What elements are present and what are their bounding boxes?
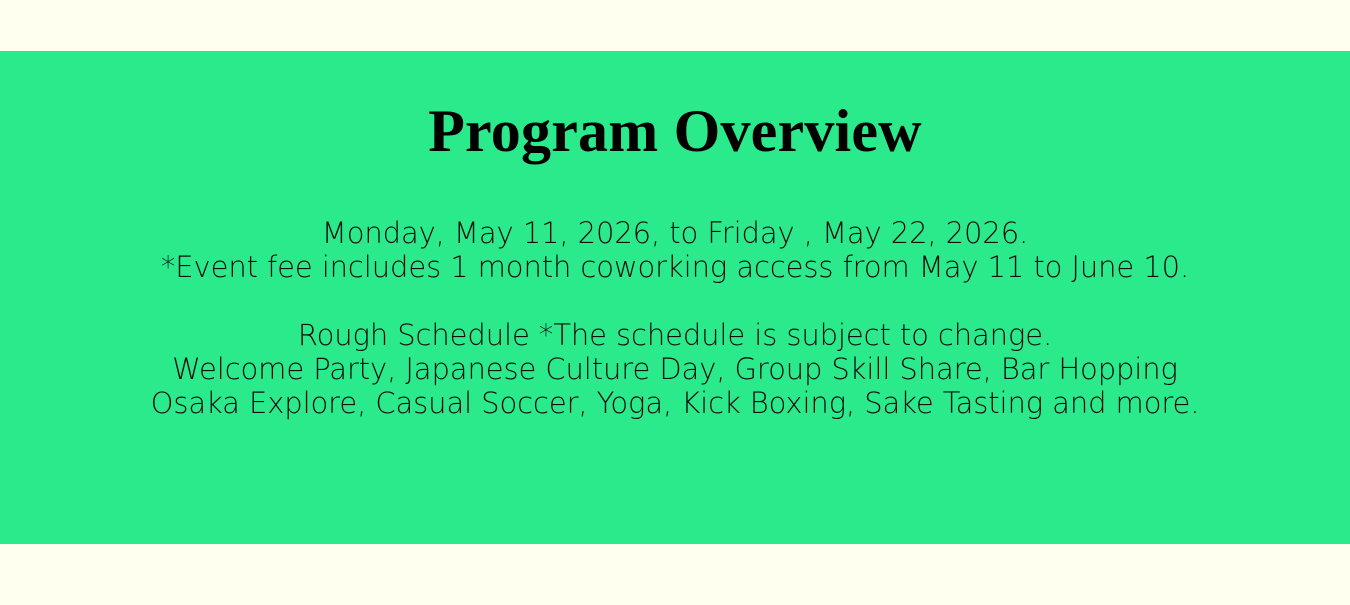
program-schedule-line-1: Rough Schedule *The schedule is subject … xyxy=(25,318,1325,352)
program-dates-paragraph: Monday, May 11, 2026, to Friday , May 22… xyxy=(25,216,1325,284)
band-content: Program Overview Monday, May 11, 2026, t… xyxy=(0,51,1350,420)
program-schedule-line-2: Welcome Party, Japanese Culture Day, Gro… xyxy=(25,352,1325,386)
program-schedule-line-3: Osaka Explore, Casual Soccer, Yoga, Kick… xyxy=(25,386,1325,420)
program-dates-line-1: Monday, May 11, 2026, to Friday , May 22… xyxy=(25,216,1325,250)
program-schedule-paragraph: Rough Schedule *The schedule is subject … xyxy=(25,318,1325,420)
page-root: Program Overview Monday, May 11, 2026, t… xyxy=(0,0,1350,605)
page-title: Program Overview xyxy=(0,51,1350,164)
program-overview-band: Program Overview Monday, May 11, 2026, t… xyxy=(0,51,1350,544)
program-dates-line-2: *Event fee includes 1 month coworking ac… xyxy=(25,250,1325,284)
